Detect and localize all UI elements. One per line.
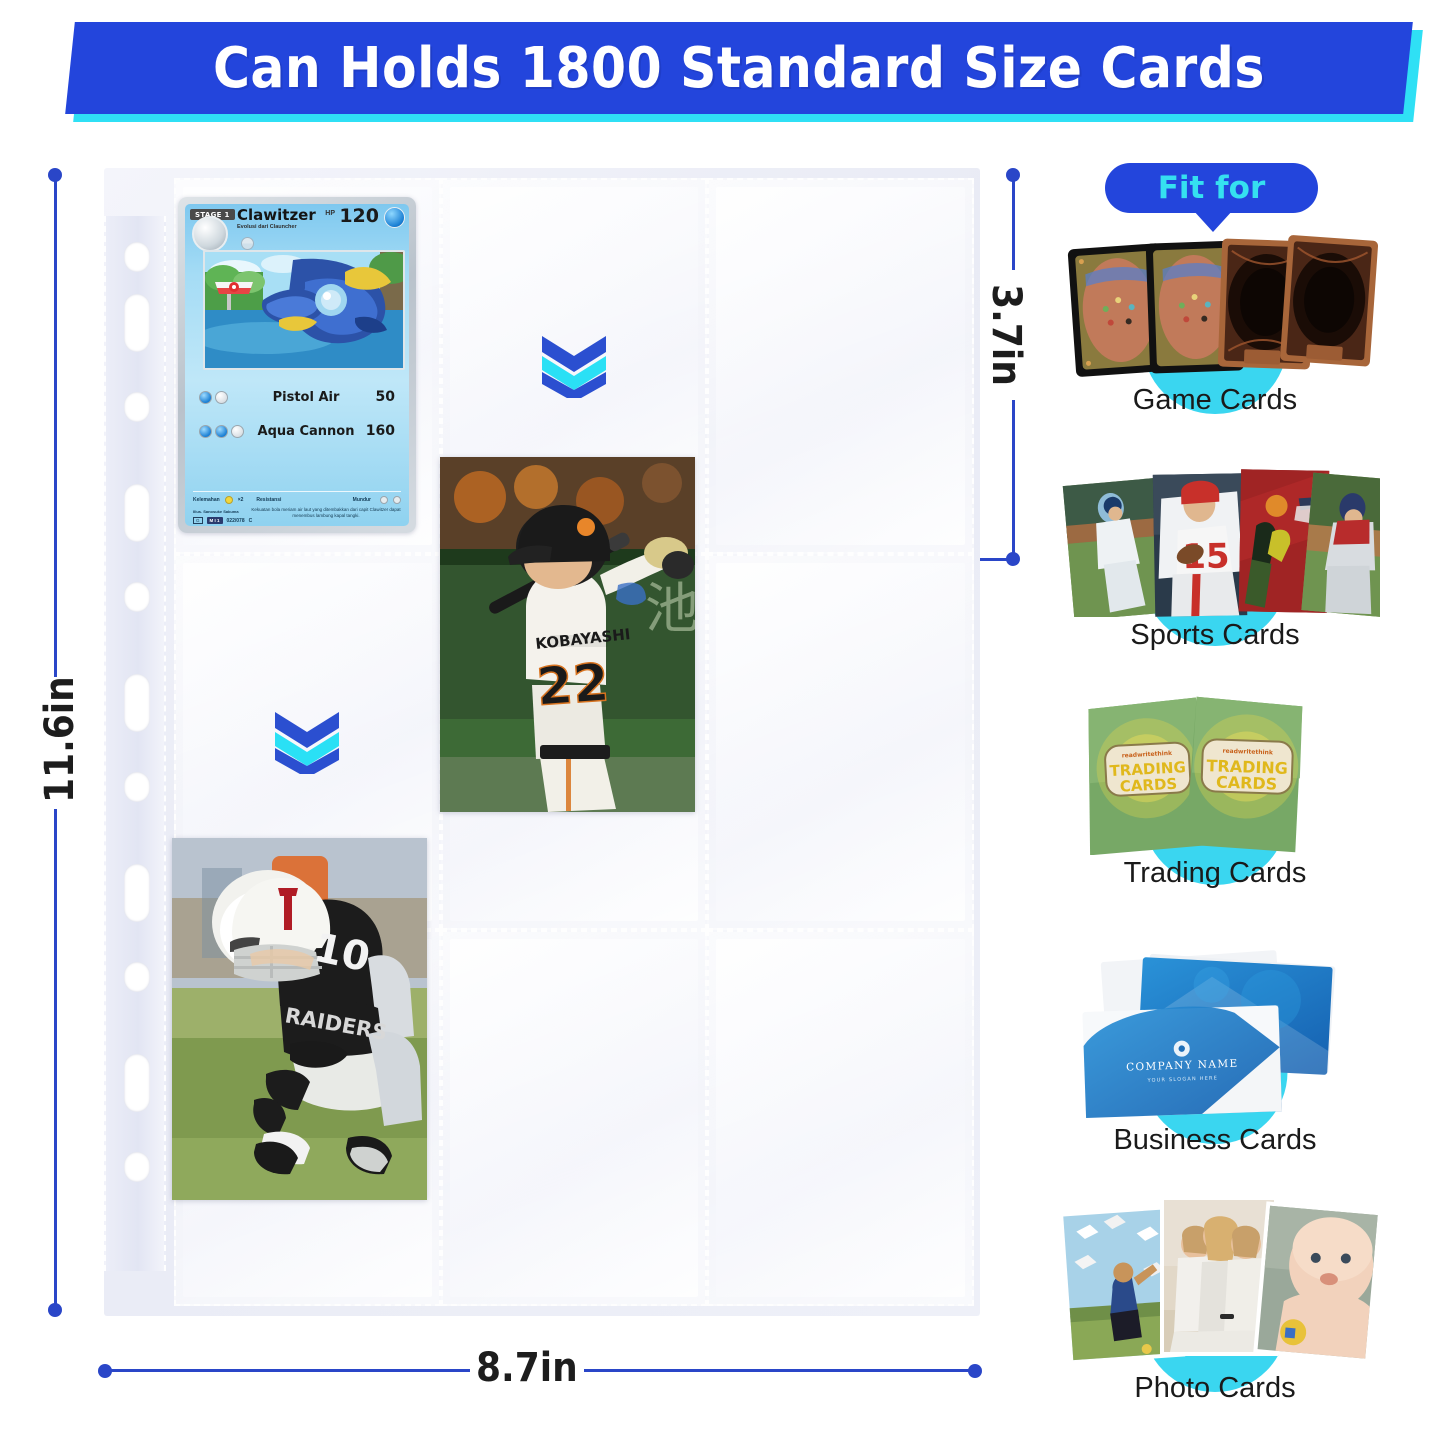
attack-row: Pistol Air 50 bbox=[199, 380, 395, 414]
fit-item-label: Game Cards bbox=[1050, 384, 1380, 417]
height-dim-dot-bottom bbox=[48, 1303, 62, 1317]
fit-item-sports-cards: 15 bbox=[1050, 462, 1380, 617]
svg-text:CARDS: CARDS bbox=[1216, 772, 1278, 793]
card-pocket[interactable] bbox=[441, 930, 708, 1306]
youth-football-photo[interactable]: 10 RAIDERS bbox=[172, 838, 427, 1200]
height-dim-dot-top bbox=[48, 168, 62, 182]
width-dim-dot-left bbox=[98, 1364, 112, 1378]
colorless-energy-icon bbox=[215, 391, 228, 404]
binder-hole bbox=[124, 392, 150, 422]
card-number: 022/078 bbox=[227, 518, 245, 524]
binder-hole-strip bbox=[104, 216, 166, 1271]
width-dim-dot-right bbox=[968, 1364, 982, 1378]
card-pocket[interactable] bbox=[707, 554, 974, 930]
fit-item-game-cards: Game Cards bbox=[1050, 232, 1380, 382]
fit-item-label: Trading Cards bbox=[1050, 857, 1380, 890]
svg-text:CARDS: CARDS bbox=[1119, 775, 1177, 796]
water-energy-icon bbox=[215, 425, 228, 438]
game-cards-artwork bbox=[1050, 232, 1380, 382]
binder-hole bbox=[124, 864, 150, 922]
fit-for-arrow-icon bbox=[1193, 210, 1233, 232]
banner-main: Can Holds 1800 Standard Size Cards bbox=[65, 22, 1413, 114]
fit-item-trading-cards: readwritethink TRADING CARDS readwriteth… bbox=[1050, 695, 1380, 855]
colorless-energy-icon bbox=[231, 425, 244, 438]
height-dimension-label: 11.6in bbox=[37, 677, 83, 809]
binder-hole bbox=[124, 1054, 150, 1112]
fit-item-label: Photo Cards bbox=[1050, 1372, 1380, 1405]
water-energy-icon bbox=[199, 425, 212, 438]
illustrator-credit: Illus. Sanosuke Sakuma bbox=[193, 509, 239, 514]
holo-stamp bbox=[192, 216, 228, 252]
binder-hole bbox=[124, 962, 150, 992]
colorless-energy-icon bbox=[380, 496, 388, 504]
regulation-mark: G bbox=[193, 517, 203, 524]
set-code: M I 1 bbox=[207, 517, 223, 524]
retreat-label: Mundur bbox=[353, 497, 371, 503]
binder-hole bbox=[124, 484, 150, 542]
fit-for-label: Fit for bbox=[1158, 170, 1266, 206]
header-banner: Can Holds 1800 Standard Size Cards bbox=[0, 0, 1445, 140]
width-dimension-label: 8.7in bbox=[470, 1345, 584, 1391]
card-artwork bbox=[203, 250, 405, 370]
photo-cards-artwork bbox=[1050, 1192, 1380, 1367]
attack-damage: 160 bbox=[357, 423, 395, 439]
svg-text:22: 22 bbox=[535, 653, 611, 718]
resistance-label: Resistansi bbox=[256, 497, 281, 503]
fit-item-label: Business Cards bbox=[1050, 1124, 1380, 1157]
water-type-icon bbox=[384, 207, 405, 228]
fit-item-business-cards: COMPANY NAME YOUR SLOGAN HERE Business C… bbox=[1050, 950, 1380, 1120]
card-attacks: Pistol Air 50 Aqua Cannon 160 bbox=[185, 380, 409, 448]
card-name: Clawitzer bbox=[237, 206, 316, 224]
business-cards-artwork: COMPANY NAME YOUR SLOGAN HERE bbox=[1050, 950, 1380, 1120]
card-hp-label: HP bbox=[325, 210, 335, 217]
svg-text:池: 池 bbox=[645, 577, 695, 640]
colorless-energy-icon bbox=[393, 496, 401, 504]
binder-hole bbox=[124, 772, 150, 802]
binder-hole bbox=[124, 582, 150, 612]
pokeball-icon bbox=[241, 237, 254, 250]
trading-cards-artwork: readwritethink TRADING CARDS readwriteth… bbox=[1050, 695, 1380, 855]
weakness-label: Kelemahan bbox=[193, 497, 220, 503]
binder-hole bbox=[124, 1152, 150, 1182]
pokemon-card[interactable]: STAGE 1 Clawitzer Evolusi dari Clauncher… bbox=[178, 197, 416, 533]
attack-damage: 50 bbox=[357, 389, 395, 405]
flavor-text: Kekuatan bola meriam air laut yang ditem… bbox=[251, 507, 401, 521]
fit-item-label: Sports Cards bbox=[1050, 619, 1380, 652]
attack-name: Pistol Air bbox=[255, 390, 357, 405]
card-hp-value: 120 bbox=[339, 205, 379, 227]
fit-item-photo-cards: Photo Cards bbox=[1050, 1192, 1380, 1367]
pocket-height-dimension-label: 3.7in bbox=[983, 270, 1029, 400]
baseball-batter-photo[interactable]: 池 KOBAYASHI 22 bbox=[440, 457, 695, 812]
card-pocket[interactable] bbox=[707, 930, 974, 1306]
card-pocket[interactable] bbox=[707, 178, 974, 554]
card-evolves-from: Evolusi dari Clauncher bbox=[237, 224, 297, 230]
water-energy-icon bbox=[199, 391, 212, 404]
weakness-value: ×2 bbox=[238, 497, 244, 503]
binder-hole bbox=[124, 242, 150, 272]
page-title: Can Holds 1800 Standard Size Cards bbox=[213, 36, 1265, 101]
fit-for-badge: Fit for bbox=[1105, 163, 1318, 213]
binder-hole bbox=[124, 674, 150, 732]
card-footer: Kelemahan ×2 Resistansi Mundur Illus. Sa… bbox=[185, 491, 409, 524]
pocket-height-dot-top bbox=[1006, 168, 1020, 182]
binder-hole bbox=[124, 294, 150, 352]
attack-row: Aqua Cannon 160 bbox=[199, 414, 395, 448]
sports-cards-artwork: 15 bbox=[1050, 462, 1380, 617]
chevron-down-icon bbox=[271, 710, 343, 774]
attack-name: Aqua Cannon bbox=[255, 424, 357, 439]
chevron-down-icon bbox=[538, 334, 610, 398]
lightning-energy-icon bbox=[225, 496, 233, 504]
